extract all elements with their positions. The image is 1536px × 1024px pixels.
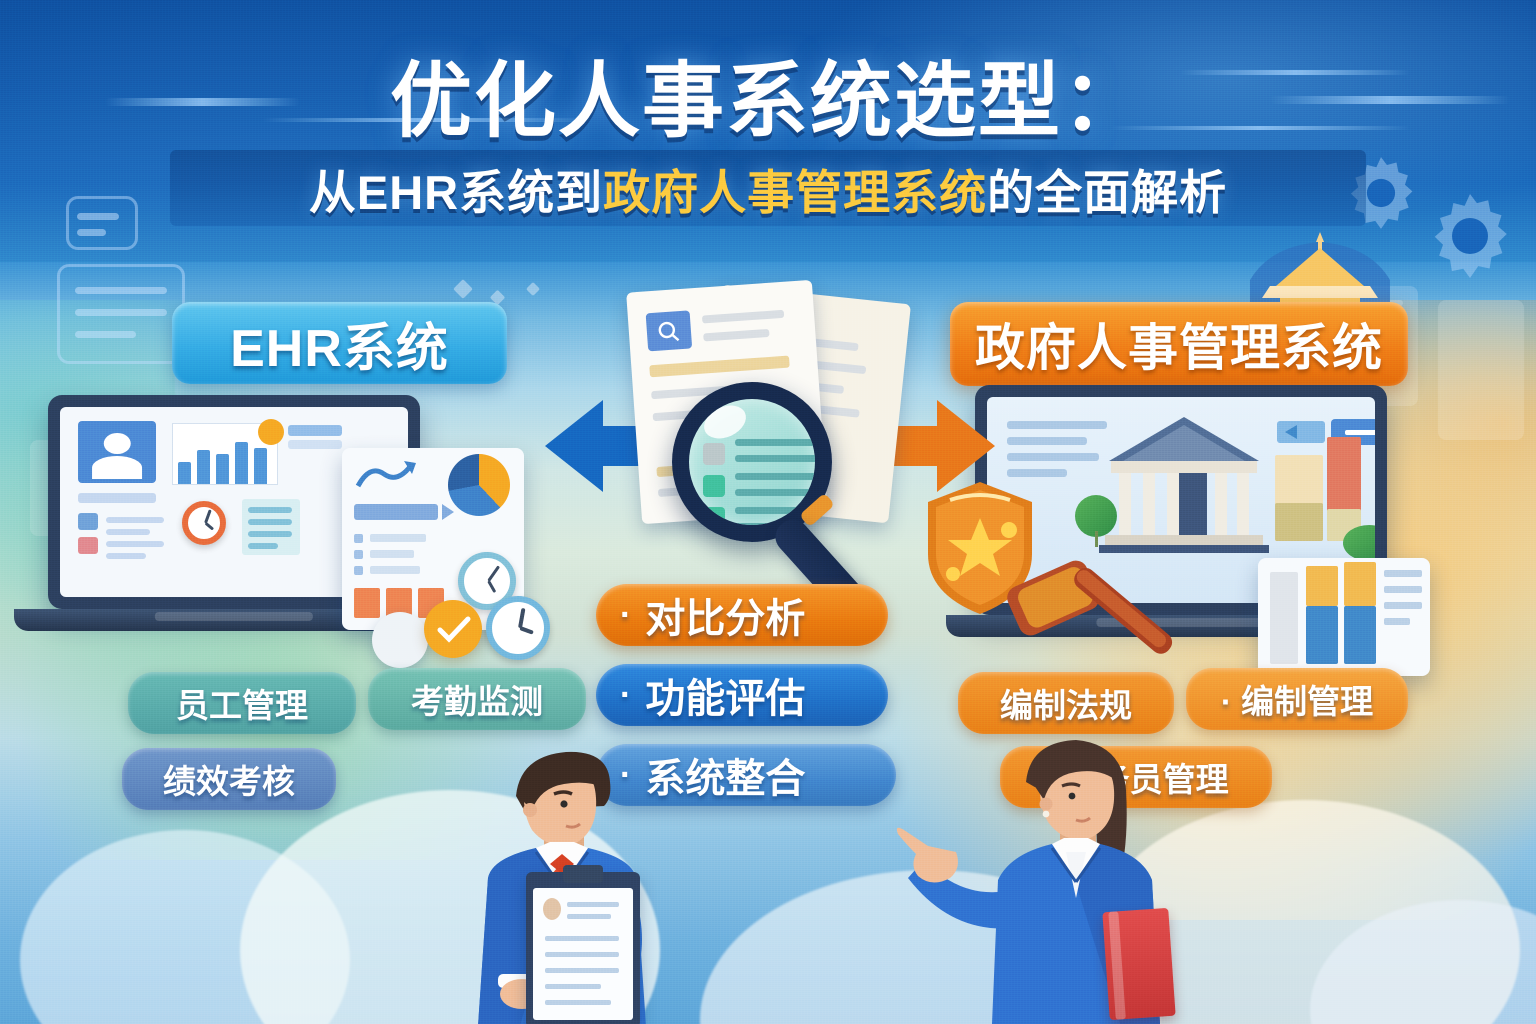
infographic-poster: 优化人事系统选型： 从EHR系统到政府人事管理系统的全面解析 EHR系统 政府人… xyxy=(0,0,1536,1024)
texture-overlay xyxy=(0,0,1536,1024)
